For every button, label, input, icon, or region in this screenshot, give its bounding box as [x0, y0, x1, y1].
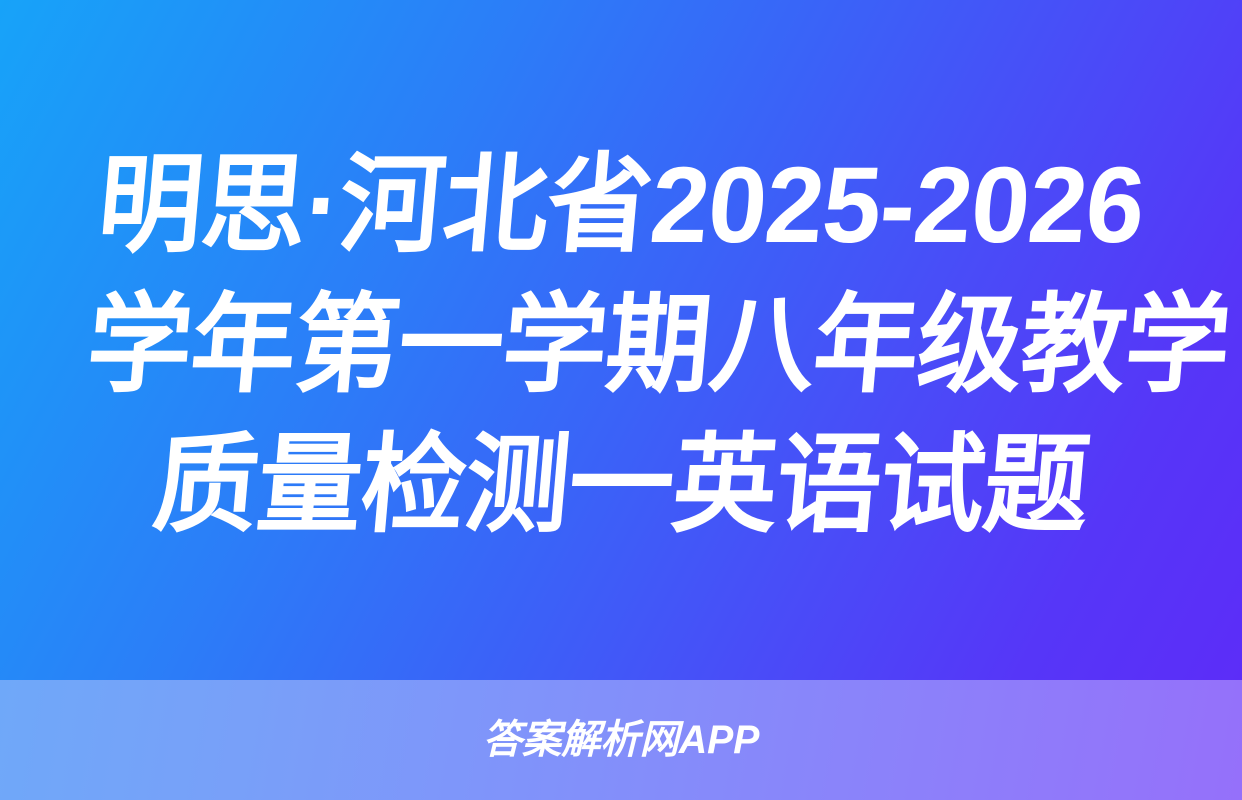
app-brand-label: 答案解析网APP: [483, 716, 760, 764]
page-title: 明思·河北省2025-2026 学年第一学期八年级教学 质量检测一英语试题: [71, 125, 1171, 555]
footer-brand-band: 答案解析网APP: [0, 680, 1242, 800]
title-line-1: 明思·河北省2025-2026: [81, 135, 1160, 275]
exam-title-card: 明思·河北省2025-2026 学年第一学期八年级教学 质量检测一英语试题 答案…: [0, 0, 1242, 800]
title-line-2: 学年第一学期八年级教学: [81, 275, 1160, 415]
hero-gradient-banner: 明思·河北省2025-2026 学年第一学期八年级教学 质量检测一英语试题: [0, 0, 1242, 680]
title-line-3: 质量检测一英语试题: [81, 415, 1160, 555]
